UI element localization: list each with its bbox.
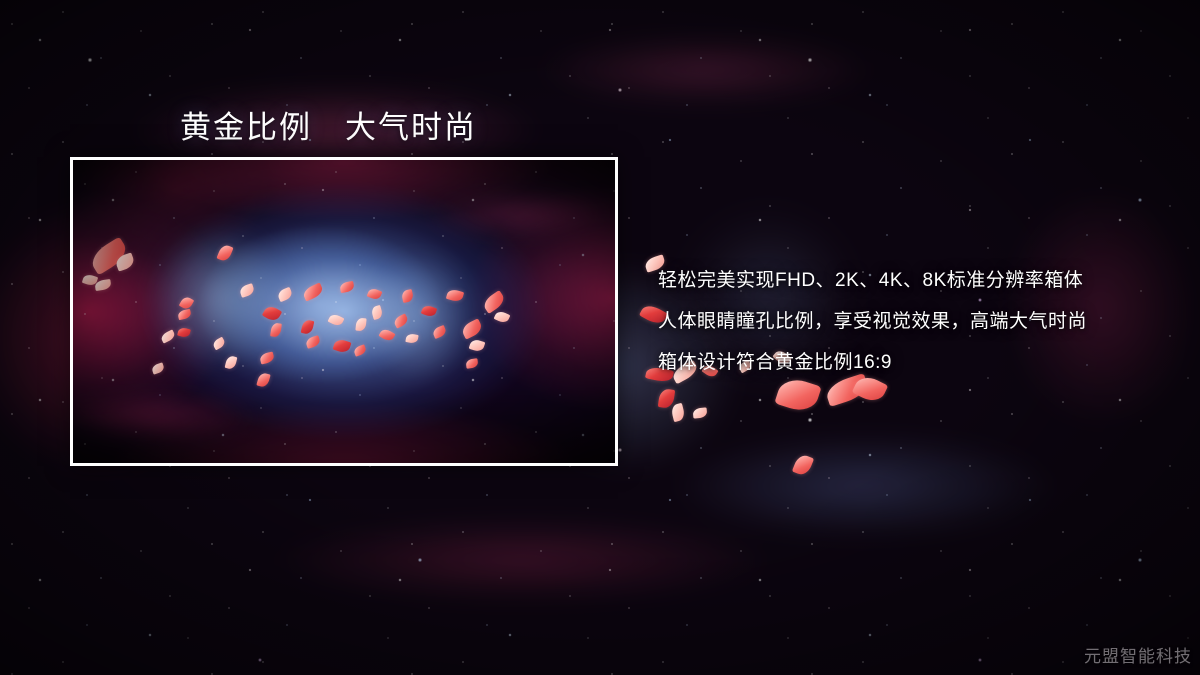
body-line-1: 轻松完美实现FHD、2K、4K、8K标准分辨率箱体 [658,260,1087,301]
page-title: 黄金比例 大气时尚 [180,102,477,147]
watermark: 元盟智能科技 [1084,642,1192,667]
body-line-3: 箱体设计符合黄金比例16:9 [658,342,1087,383]
body-line-2: 人体眼睛瞳孔比例，享受视觉效果，高端大气时尚 [658,301,1087,342]
framed-image [70,157,618,466]
framed-image-content [73,160,615,463]
slide-canvas: 黄金比例 大气时尚 轻松完美实现FHD、2K、4K、8K标准分辨率箱体 人体眼睛… [0,0,1200,675]
inner-vignette [73,160,615,463]
body-text-block: 轻松完美实现FHD、2K、4K、8K标准分辨率箱体 人体眼睛瞳孔比例，享受视觉效… [658,260,1087,383]
